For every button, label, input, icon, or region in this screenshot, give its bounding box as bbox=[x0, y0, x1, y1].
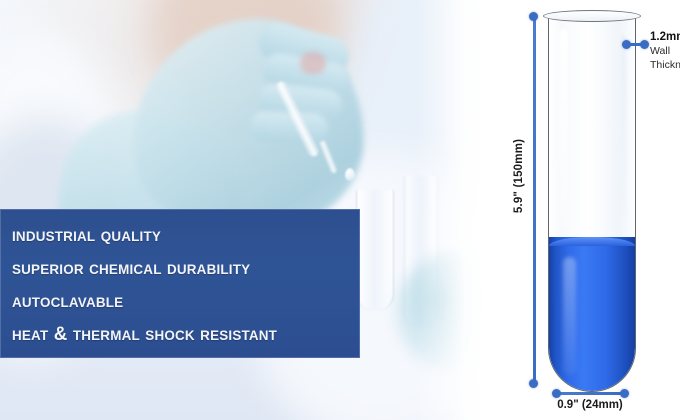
wall-thickness-value: 1.2mm bbox=[650, 30, 680, 44]
diameter-measure-dot-right bbox=[620, 389, 629, 398]
wall-thickness-dot-outer bbox=[640, 40, 649, 49]
diameter-label: 0.9" (24mm) bbox=[522, 399, 658, 411]
diameter-measure-line bbox=[556, 392, 624, 395]
tube-liquid bbox=[549, 237, 635, 391]
tube-rim bbox=[543, 10, 641, 22]
height-measure-line bbox=[533, 16, 536, 383]
photo-test-tube bbox=[356, 190, 394, 310]
feature-line-4: Heat & Thermal Shock resistant bbox=[12, 318, 346, 351]
glass-highlight-left bbox=[559, 29, 568, 229]
height-measure-dot-bottom bbox=[529, 379, 538, 388]
diameter-measure-dot-left bbox=[552, 389, 561, 398]
feature-line-3: autoclavable bbox=[12, 285, 346, 318]
height-measure-dot-top bbox=[529, 12, 538, 21]
photo-edge-fade bbox=[416, 0, 486, 420]
dimension-diagram-panel: 5.9" (150mm) 0.9" (24mm) 1.2mm Wall Thic… bbox=[486, 0, 680, 420]
wall-thickness-word-thickness: Thickness bbox=[650, 58, 680, 72]
feature-line-2: Superior chemical durability bbox=[12, 252, 346, 285]
liquid-droplet bbox=[345, 168, 355, 181]
glass-highlight-right bbox=[621, 35, 626, 215]
feature-banner: Industrial quality Superior chemical dur… bbox=[0, 209, 360, 358]
liquid-highlight bbox=[563, 257, 576, 375]
height-label: 5.9" (150mm) bbox=[513, 121, 525, 231]
wall-thickness-dot-inner bbox=[622, 40, 631, 49]
wall-thickness-label: 1.2mm Wall Thickness bbox=[650, 30, 680, 72]
feature-line-1: Industrial quality bbox=[12, 219, 346, 252]
product-infographic: Industrial quality Superior chemical dur… bbox=[0, 0, 680, 420]
tube-glass-body bbox=[548, 15, 636, 392]
test-tube-illustration bbox=[548, 10, 636, 392]
fingertip-skin bbox=[300, 52, 326, 74]
wall-thickness-word-wall: Wall bbox=[650, 44, 680, 58]
